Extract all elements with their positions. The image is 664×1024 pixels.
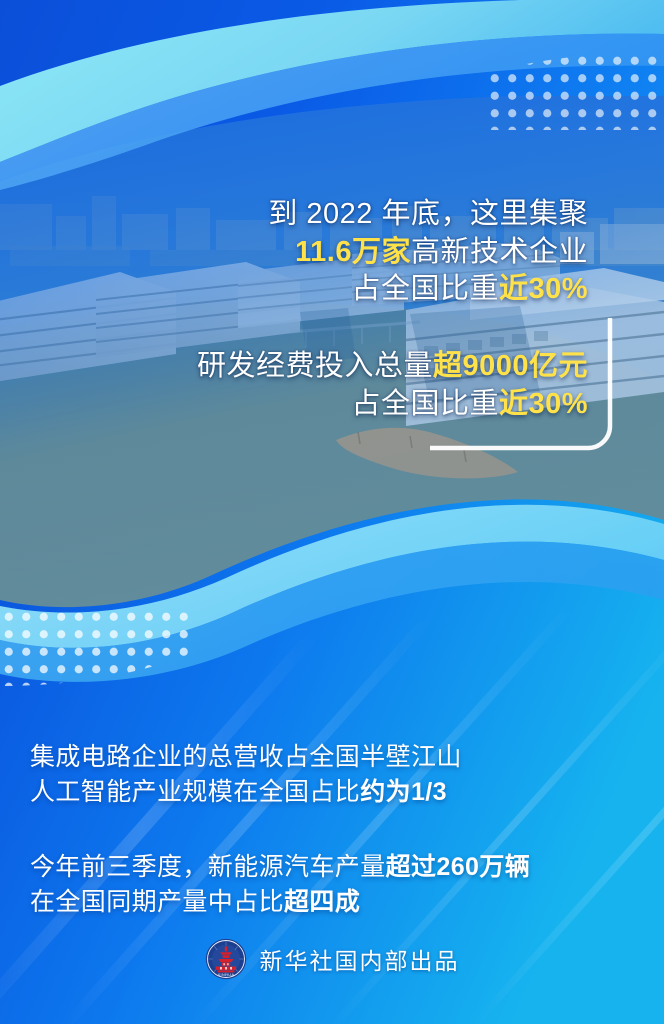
stats-line: 占全国比重近30% xyxy=(197,386,588,424)
footer-text: 新华社国内部出品 xyxy=(260,942,460,976)
highlight-value: 超9000亿元 xyxy=(433,350,588,382)
highlight-value: 近30% xyxy=(499,388,588,420)
stats-line: 今年前三季度，新能源汽车产量超过260万辆 xyxy=(30,850,530,885)
infographic-poster: 到 2022 年底，这里集聚 11.6万家高新技术企业 占全国比重近30% 研发… xyxy=(0,0,664,1024)
logo-caption: XINHUA xyxy=(217,973,234,977)
stats-line: 研发经费投入总量超9000亿元 xyxy=(197,348,588,386)
stats-line: 到 2022 年底，这里集聚 xyxy=(268,196,588,234)
stats-line: 11.6万家高新技术企业 xyxy=(268,234,588,272)
stats-block-1: 到 2022 年底，这里集聚 11.6万家高新技术企业 占全国比重近30% xyxy=(268,196,588,309)
emphasis-value: 超过260万辆 xyxy=(386,853,531,881)
footer: XINHUA 新华社国内部出品 xyxy=(0,938,664,980)
highlight-value: 近30% xyxy=(499,273,588,305)
stats-line: 人工智能产业规模在全国占比约为1/3 xyxy=(30,775,462,810)
xinhua-news-agency-logo: XINHUA xyxy=(205,938,247,980)
highlight-value: 11.6万家 xyxy=(295,236,411,268)
emphasis-value: 超四成 xyxy=(284,888,360,916)
stats-block-4: 今年前三季度，新能源汽车产量超过260万辆 在全国同期产量中占比超四成 xyxy=(30,850,530,919)
emphasis-value: 约为1/3 xyxy=(360,778,447,806)
dot-grid-left xyxy=(0,608,196,686)
stats-line: 集成电路企业的总营收占全国半壁江山 xyxy=(30,740,462,775)
stats-block-3: 集成电路企业的总营收占全国半壁江山 人工智能产业规模在全国占比约为1/3 xyxy=(30,740,462,809)
dot-grid-top-right xyxy=(486,52,664,130)
stats-block-2: 研发经费投入总量超9000亿元 占全国比重近30% xyxy=(197,348,588,423)
stats-line: 在全国同期产量中占比超四成 xyxy=(30,885,530,920)
stats-line: 占全国比重近30% xyxy=(268,271,588,309)
